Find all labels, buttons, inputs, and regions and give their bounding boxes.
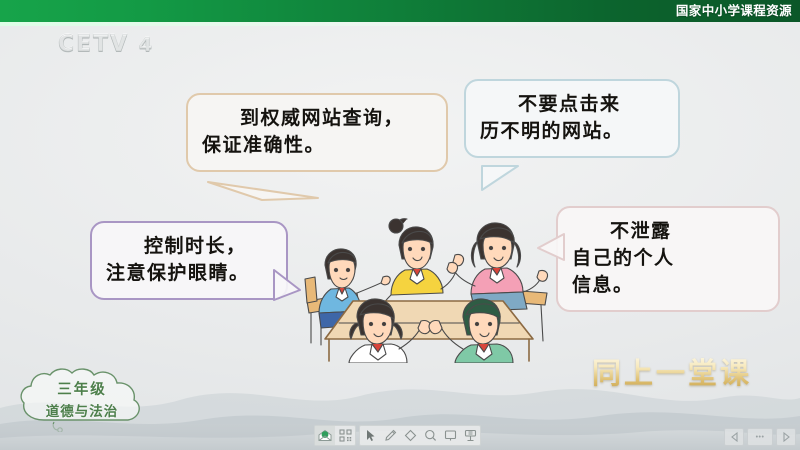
bubble-authority-line1: 到权威网站查询， (202, 105, 432, 132)
annotation-toolbar (314, 425, 481, 446)
bubble-unknown-line1: 不要点击来 (480, 91, 664, 118)
bubble-tail-personal-info (534, 230, 568, 272)
bubble-screen-time-line2: 注意保护眼睛。 (106, 260, 272, 287)
subject-label: 道德与法治 (46, 400, 119, 420)
magnifier-icon[interactable] (420, 426, 440, 445)
eraser-icon[interactable] (400, 426, 420, 445)
cursor-pointer-icon[interactable] (360, 426, 380, 445)
bubble-screen-time: 控制时长， 注意保护眼睛。 (90, 221, 288, 300)
pen-icon[interactable] (380, 426, 400, 445)
home-cloud-icon[interactable] (315, 426, 335, 445)
bubble-personal-info-line1: 不泄露 (572, 218, 764, 245)
cetv-channel-number: 4 (139, 34, 154, 56)
topbar-highlight (0, 22, 800, 26)
cetv-watermark: CETV 4 (58, 32, 154, 57)
slide-stage: CETV 4 (0, 0, 800, 450)
bubble-unknown-line2: 历不明的网站。 (480, 118, 664, 145)
qr-code-icon[interactable] (335, 426, 355, 445)
bubble-authority-line2: 保证准确性。 (202, 132, 432, 159)
spotlight-icon[interactable] (460, 426, 480, 445)
grade-label: 三年级 (57, 378, 107, 399)
grade-subject-badge: 三年级 道德与法治 (14, 366, 150, 432)
students-discussion-illustration (295, 193, 560, 363)
slide-menu-label: ••• (756, 434, 765, 441)
toolbar-group-tools (359, 425, 481, 446)
slide-menu-button[interactable]: ••• (747, 428, 773, 446)
top-green-bar: 国家中小学课程资源 (0, 0, 800, 22)
bubble-tail-authority (206, 180, 326, 214)
screen-icon[interactable] (440, 426, 460, 445)
bubble-authority-website: 到权威网站查询， 保证准确性。 (186, 93, 448, 172)
toolbar-group-primary (314, 425, 356, 446)
bubble-tail-screen-time (272, 266, 306, 308)
bubble-personal-info-line3: 信息。 (572, 272, 764, 299)
bubble-unknown-website: 不要点击来 历不明的网站。 (464, 79, 680, 158)
bubble-screen-time-line1: 控制时长， (106, 233, 272, 260)
program-title: 同上一堂课 (592, 350, 752, 392)
bubble-personal-info: 不泄露 自己的个人 信息。 (556, 206, 780, 312)
next-slide-button[interactable] (776, 428, 796, 446)
slide-navigation: ••• (724, 428, 796, 446)
prev-slide-button[interactable] (724, 428, 744, 446)
cetv-channel-text: CETV (58, 32, 129, 57)
bubble-tail-unknown (478, 164, 534, 196)
bubble-personal-info-line2: 自己的个人 (572, 245, 764, 272)
brand-label: 国家中小学课程资源 (676, 2, 792, 20)
